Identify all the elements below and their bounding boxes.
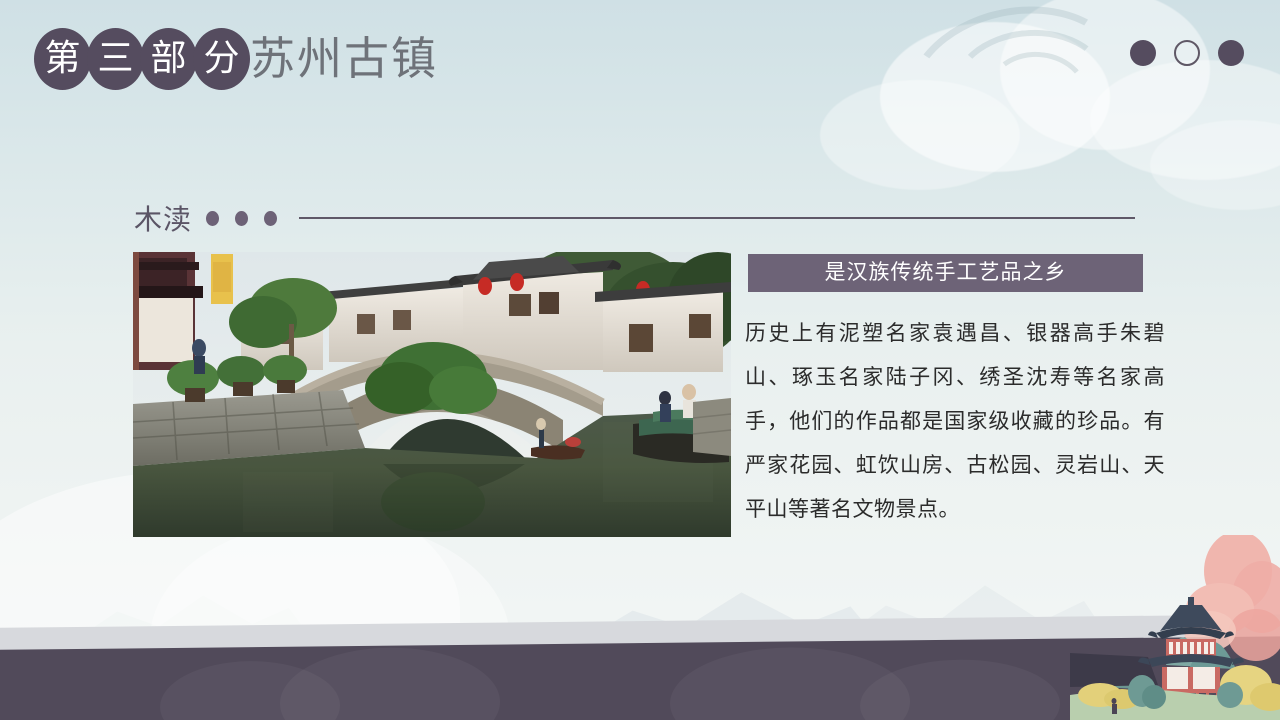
badge-char-2: 三 — [87, 28, 144, 90]
page-dot-2-icon[interactable] — [1174, 40, 1200, 66]
cloud-shape — [1000, 0, 1210, 150]
section-heading-row: 木渎 — [134, 198, 1135, 238]
band-cloud-shape — [279, 647, 500, 720]
cloud-shape — [880, 22, 1110, 172]
cloud-swirl-line — [981, 47, 1095, 147]
badge-char-1: 第 — [34, 28, 91, 90]
page-dot-1-icon[interactable] — [1130, 40, 1156, 66]
content-headline-bar: 是汉族传统手工艺品之乡 — [748, 254, 1143, 292]
page-title: 苏州古镇 — [250, 28, 438, 90]
slide-canvas: 第 三 部 分 苏州古镇 木渎 — [0, 0, 1280, 720]
badge-char-3: 部 — [140, 28, 197, 90]
slide-title: 第 三 部 分 苏州古镇 — [34, 28, 438, 90]
section-divider-line — [299, 217, 1135, 219]
section-dot-group — [206, 211, 277, 226]
cloud-shape — [820, 80, 1020, 190]
section-dot-icon — [206, 211, 219, 226]
band-cloud-shape — [860, 659, 1061, 720]
cloud-swirl-line — [890, 0, 1143, 193]
section-number-badges: 第 三 部 分 — [34, 28, 246, 90]
watertown-photo-illustration — [133, 252, 731, 537]
cloud-swirl-line — [946, 24, 1116, 157]
page-dot-3-icon[interactable] — [1218, 40, 1244, 66]
watertown-photo — [133, 252, 731, 537]
badge-char-4: 分 — [193, 28, 250, 90]
bottom-dark-band — [0, 636, 1280, 720]
section-label: 木渎 — [134, 198, 192, 238]
content-paragraph: 历史上有泥塑名家袁遇昌、银器高手朱碧山、琢玉名家陆子冈、绣圣沈寿等名家高手，他们… — [745, 312, 1165, 532]
cloud-shape — [1090, 60, 1280, 180]
cloud-shape — [1150, 120, 1280, 210]
page-indicator-dots[interactable] — [1130, 40, 1244, 66]
section-dot-icon — [264, 211, 277, 226]
section-dot-icon — [235, 211, 248, 226]
